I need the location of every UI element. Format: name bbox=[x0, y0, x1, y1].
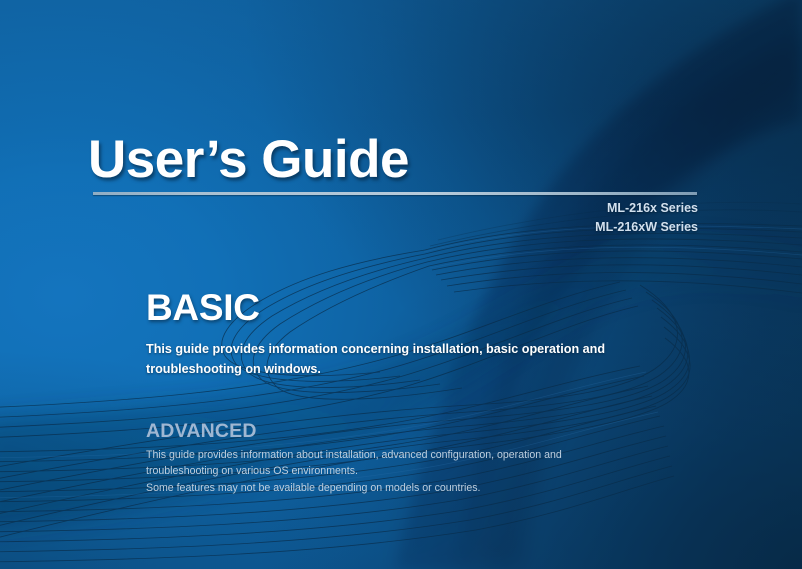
cover-content: User’s Guide ML-216x Series ML-216xW Ser… bbox=[0, 0, 802, 569]
basic-section-heading: BASIC bbox=[146, 289, 260, 328]
model-series-list: ML-216x Series ML-216xW Series bbox=[595, 199, 698, 237]
page-title: User’s Guide bbox=[88, 133, 409, 186]
basic-section-description: This guide provides information concerni… bbox=[146, 340, 616, 379]
advanced-section-heading: ADVANCED bbox=[146, 421, 257, 441]
model-series-item-1: ML-216x Series bbox=[595, 199, 698, 218]
cover-page: User’s Guide ML-216x Series ML-216xW Ser… bbox=[0, 0, 802, 569]
title-divider bbox=[93, 192, 697, 195]
advanced-description-line-3: Some features may not be available depen… bbox=[146, 480, 616, 496]
model-series-item-2: ML-216xW Series bbox=[595, 218, 698, 237]
advanced-section-description: This guide provides information about in… bbox=[146, 447, 616, 496]
advanced-description-line-2: troubleshooting on various OS environmen… bbox=[146, 463, 616, 479]
advanced-description-line-1: This guide provides information about in… bbox=[146, 447, 616, 463]
